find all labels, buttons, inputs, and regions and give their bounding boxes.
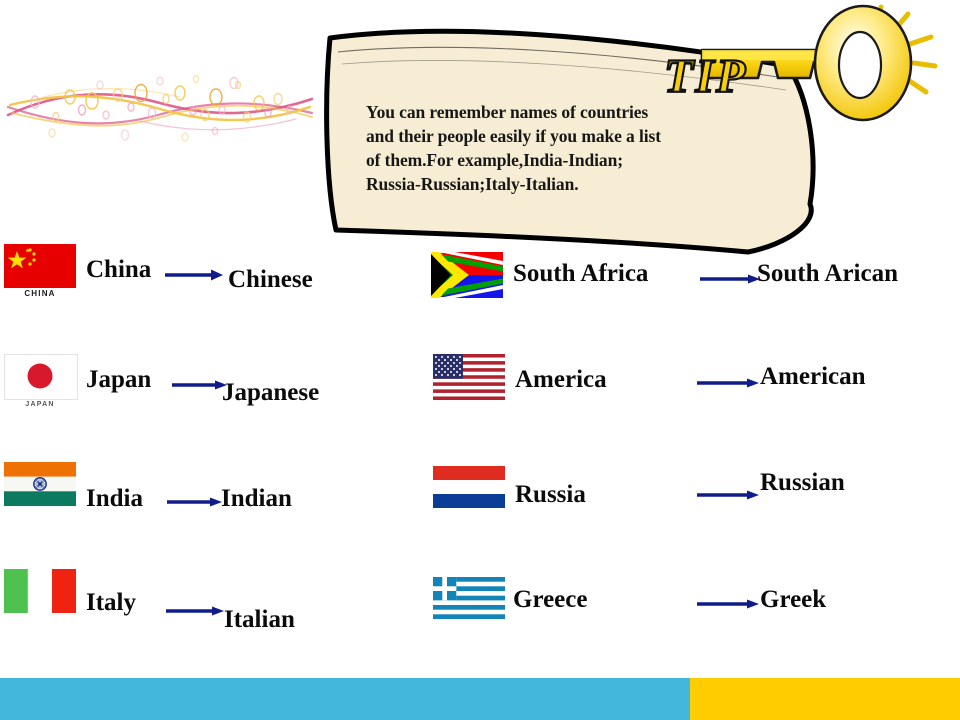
flag-italy	[4, 569, 76, 613]
table-row: CHINA China Chinese	[0, 240, 420, 345]
wave-ribbon-svg	[0, 55, 320, 175]
people-label-indian: Indian	[221, 486, 292, 511]
flag-italy-svg	[4, 569, 76, 613]
flag-cell	[4, 462, 84, 507]
arrow-icon	[172, 378, 227, 392]
arrow-icon	[697, 597, 759, 611]
flag-china-svg	[4, 244, 76, 288]
people-label-american: American	[760, 364, 866, 389]
key-tip-label: TIP	[664, 50, 747, 103]
people-label-greek: Greek	[760, 587, 826, 612]
key-icon: TIP	[650, 0, 960, 135]
people-label-chinese: Chinese	[228, 267, 313, 292]
flag-cell	[431, 252, 511, 299]
key-tip-text: TIP	[664, 50, 747, 103]
arrow-icon	[166, 604, 224, 618]
bottom-bar-blue-segment	[0, 678, 690, 720]
country-label-italy: Italy	[86, 590, 136, 615]
bottom-bar-yellow-segment	[690, 678, 960, 720]
flag-usa-svg	[433, 354, 505, 400]
flag-japan	[4, 354, 78, 400]
flag-caption: CHINA	[4, 289, 76, 298]
country-label-america: America	[515, 367, 607, 392]
table-row: America American	[425, 348, 960, 453]
key-bow	[815, 6, 911, 120]
arrow-icon	[697, 488, 759, 502]
arrow-icon	[697, 376, 759, 390]
table-row: India Indian	[0, 458, 420, 563]
people-label-japanese: Japanese	[222, 380, 319, 405]
bottom-color-bar	[0, 678, 960, 720]
flag-greece	[433, 577, 505, 619]
people-label-italian: Italian	[224, 607, 295, 632]
flag-russia-svg	[433, 466, 505, 508]
country-label-greece: Greece	[513, 587, 587, 612]
country-people-rows: CHINA China Chinese JAPAN Japan Japanese	[0, 240, 960, 660]
arrow-icon	[165, 268, 223, 282]
wave-ribbon-decoration	[0, 55, 320, 175]
flag-cell	[433, 466, 513, 509]
people-label-south-arican: South Arican	[757, 261, 898, 286]
table-row: South Africa South Arican	[425, 240, 960, 345]
table-row: JAPAN Japan Japanese	[0, 350, 420, 455]
flag-south-africa	[431, 252, 503, 298]
flag-caption: JAPAN	[4, 401, 76, 408]
flag-south-africa-svg	[431, 252, 503, 298]
flag-china	[4, 244, 76, 288]
flag-usa	[433, 354, 505, 400]
flag-cell	[433, 577, 513, 620]
flag-cell: CHINA	[4, 244, 84, 298]
country-label-south-africa: South Africa	[513, 261, 648, 286]
table-row: Italy Italian	[0, 565, 420, 670]
flag-india-svg	[4, 462, 76, 506]
country-label-india: India	[86, 486, 143, 511]
tip-line-4: Russia-Russian;Italy-Italian.	[366, 172, 816, 196]
table-row: Russia Russian	[425, 456, 960, 561]
flag-india	[4, 462, 76, 506]
flag-cell	[433, 354, 513, 401]
arrow-icon	[167, 495, 222, 509]
key-icon-svg: TIP	[650, 0, 960, 135]
country-label-china: China	[86, 257, 151, 282]
people-label-russian: Russian	[760, 470, 845, 495]
table-row: Greece Greek	[425, 565, 960, 670]
flag-greece-svg	[433, 577, 505, 619]
country-label-russia: Russia	[515, 482, 586, 507]
arrow-icon	[700, 272, 760, 286]
tip-line-3: of them.For example,India-Indian;	[366, 148, 816, 172]
flag-japan-svg	[5, 355, 75, 397]
flag-russia	[433, 466, 505, 508]
flag-cell: JAPAN	[4, 354, 84, 408]
flag-cell	[4, 569, 84, 614]
country-label-japan: Japan	[86, 367, 151, 392]
